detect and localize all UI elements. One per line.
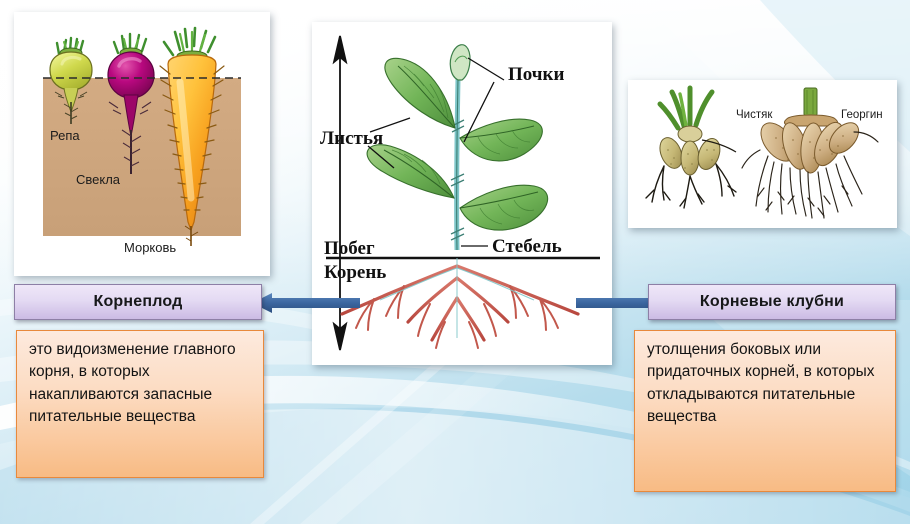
label-celandine: Чистяк	[736, 109, 773, 121]
card-body-root-tubers: утолщения боковых или придаточных корней…	[634, 330, 896, 492]
slide-canvas: Репа Свекла Морковь	[0, 0, 910, 524]
card-title-root-tubers-label: Корневые клубни	[700, 293, 844, 311]
card-title-root-crop-label: Корнеплод	[93, 293, 182, 311]
label-carrot: Морковь	[124, 240, 176, 255]
card-body-root-crop: это видоизменение главного корня, в кото…	[16, 330, 264, 478]
label-dahlia: Георгин	[841, 109, 883, 121]
label-beet: Свекла	[76, 172, 121, 187]
label-turnip: Репа	[50, 128, 80, 143]
arrow-to-left-card	[252, 292, 360, 314]
label-buds: Почки	[508, 64, 564, 85]
label-shoot: Побег	[324, 238, 375, 259]
label-root: Корень	[324, 262, 386, 283]
label-leaves: Листья	[320, 128, 383, 149]
root-crops-image: Репа Свекла Морковь	[14, 12, 270, 276]
card-title-root-tubers[interactable]: Корневые клубни	[648, 284, 896, 320]
root-tubers-image: Чистяк	[628, 80, 897, 228]
card-title-root-crop[interactable]: Корнеплод	[14, 284, 262, 320]
label-stem: Стебель	[492, 236, 562, 257]
